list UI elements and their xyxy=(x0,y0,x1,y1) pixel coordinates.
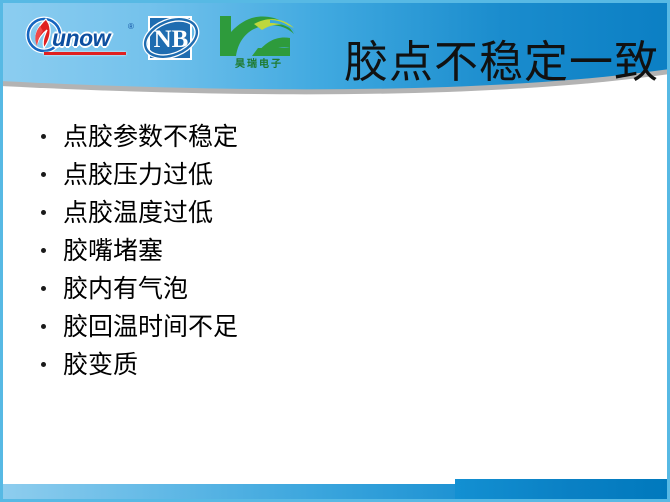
list-item: 胶内有气泡 xyxy=(30,270,630,308)
presentation-slide: unow ® NB 昊瑞电子 xyxy=(0,0,670,502)
haorui-company-name: 昊瑞电子 xyxy=(221,55,297,70)
list-item-label: 胶内有气泡 xyxy=(63,274,188,303)
list-item: 点胶温度过低 xyxy=(30,194,630,232)
list-item: 胶回温时间不足 xyxy=(30,308,630,346)
list-item-label: 点胶压力过低 xyxy=(63,160,213,189)
list-item-label: 点胶温度过低 xyxy=(63,198,213,227)
svg-text:NB: NB xyxy=(154,26,189,53)
list-item-label: 胶回温时间不足 xyxy=(63,312,238,341)
unow-registered-icon: ® xyxy=(128,22,134,31)
logo-row: unow ® NB 昊瑞电子 xyxy=(0,0,330,78)
bullet-dot-icon xyxy=(41,324,46,329)
bullet-dot-icon xyxy=(41,248,46,253)
bullet-dot-icon xyxy=(41,286,46,291)
unow-brand-text: unow xyxy=(52,25,110,52)
bullet-dot-icon xyxy=(41,210,46,215)
list-item: 点胶压力过低 xyxy=(30,156,630,194)
logo-nb: NB xyxy=(140,12,202,66)
bullet-dot-icon xyxy=(41,134,46,139)
list-item: 点胶参数不稳定 xyxy=(30,118,630,156)
unow-underline xyxy=(44,52,126,55)
slide-bullet-list: 点胶参数不稳定 点胶压力过低 点胶温度过低 胶嘴堵塞 胶内有气泡 胶回温时间不足… xyxy=(30,118,630,384)
footer-bar-right xyxy=(455,479,667,499)
bullet-dot-icon xyxy=(41,362,46,367)
list-item-label: 胶变质 xyxy=(63,350,138,379)
list-item-label: 点胶参数不稳定 xyxy=(63,122,238,151)
list-item: 胶嘴堵塞 xyxy=(30,232,630,270)
footer-bar-left xyxy=(3,484,455,499)
logo-haorui: 昊瑞电子 xyxy=(214,12,300,70)
slide-title: 胶点不稳定一致 xyxy=(344,38,659,88)
list-item: 胶变质 xyxy=(30,346,630,384)
list-item-label: 胶嘴堵塞 xyxy=(63,236,163,265)
nb-logo-icon: NB xyxy=(140,12,202,66)
bullet-dot-icon xyxy=(41,172,46,177)
logo-unow: unow ® xyxy=(24,16,129,62)
haorui-logo-icon xyxy=(214,12,300,58)
